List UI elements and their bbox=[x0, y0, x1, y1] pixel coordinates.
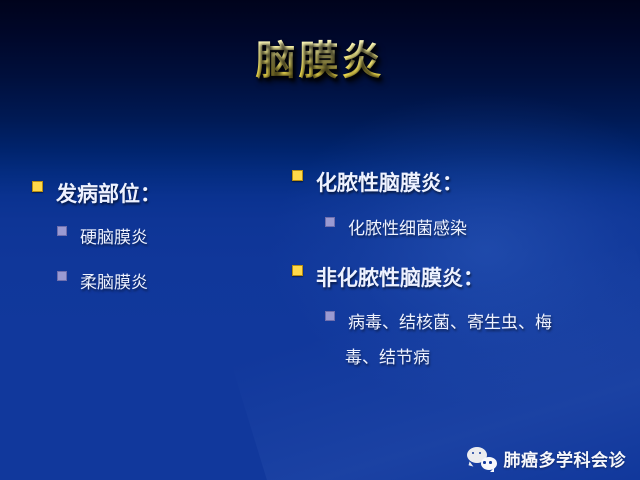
page-title: 脑膜炎 bbox=[0, 28, 640, 86]
right-section-2-heading-label: 非化脓性脑膜炎： bbox=[316, 267, 484, 289]
square-bullet-icon bbox=[57, 226, 67, 236]
right-section-1-sub-item-1-label: 化脓性细菌感染 bbox=[348, 219, 467, 239]
right-section-1-heading-label: 化脓性脑膜炎： bbox=[316, 172, 463, 194]
square-bullet-icon bbox=[57, 271, 67, 281]
wechat-icon bbox=[467, 447, 497, 471]
left-heading-label: 发病部位： bbox=[56, 183, 161, 205]
left-sub-item-1-label: 硬脑膜炎 bbox=[80, 228, 148, 248]
right-section-1-heading-row: 化脓性脑膜炎： bbox=[292, 172, 463, 194]
square-bullet-icon bbox=[292, 170, 303, 181]
right-section-2-heading-row: 非化脓性脑膜炎： bbox=[292, 267, 484, 289]
left-sub-item-2-label: 柔脑膜炎 bbox=[80, 273, 148, 293]
right-section-2-sub-item-1-line-1-label: 病毒、结核菌、寄生虫、梅 bbox=[348, 313, 552, 333]
left-sub-item-2-row: 柔脑膜炎 bbox=[57, 273, 148, 293]
watermark: 肺癌多学科会诊 bbox=[467, 446, 627, 471]
right-section-1-sub-item-1-row: 化脓性细菌感染 bbox=[325, 219, 467, 239]
right-section-2-sub-item-1-row: 病毒、结核菌、寄生虫、梅 bbox=[325, 313, 552, 333]
right-section-2-sub-item-1-wrap-row: 毒、结节病 bbox=[345, 348, 430, 368]
square-bullet-icon bbox=[325, 311, 335, 321]
left-heading-row: 发病部位： bbox=[32, 183, 161, 205]
slide-canvas: 脑膜炎 发病部位： 硬脑膜炎 柔脑膜炎 化脓性脑膜炎： 化脓性细菌感染 非化脓性… bbox=[0, 0, 640, 480]
square-bullet-icon bbox=[325, 217, 335, 227]
square-bullet-icon bbox=[32, 181, 43, 192]
left-sub-item-1-row: 硬脑膜炎 bbox=[57, 228, 148, 248]
square-bullet-icon bbox=[292, 265, 303, 276]
right-section-2-sub-item-1-line-2-label: 毒、结节病 bbox=[345, 348, 430, 368]
watermark-label: 肺癌多学科会诊 bbox=[504, 446, 627, 471]
